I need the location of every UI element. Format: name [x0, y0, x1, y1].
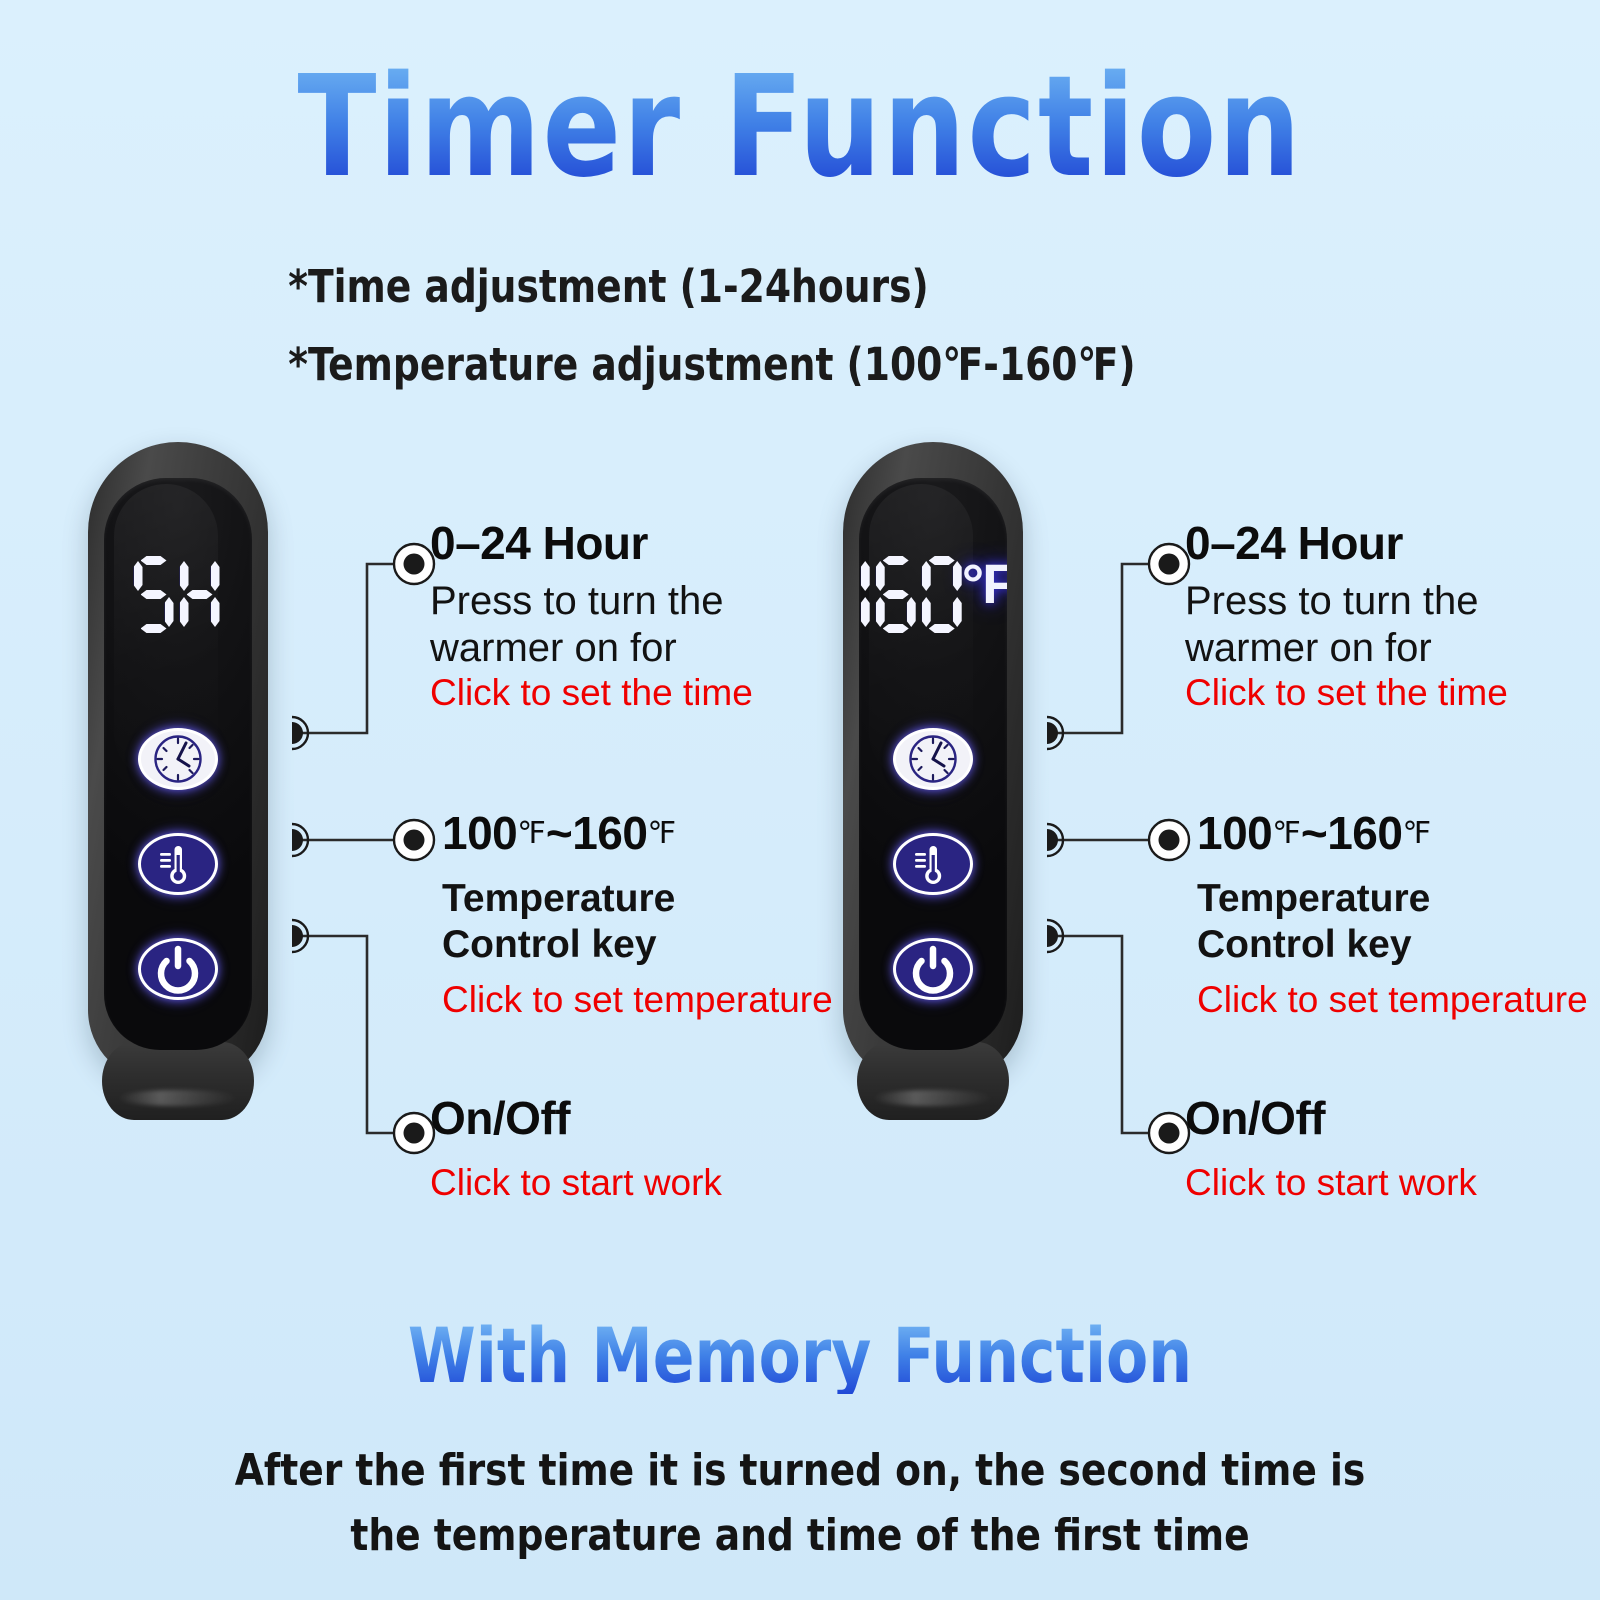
callout-temperature-left: 100℉~160℉ Temperature Control key Click … — [442, 810, 833, 1022]
infographic-canvas: Timer Function *Time adjustment (1-24hou… — [0, 0, 1600, 1600]
callout-temperature-hint: Click to set temperature — [1197, 978, 1588, 1022]
device-screen: °F — [859, 478, 1007, 1050]
led-digit-6 — [876, 556, 916, 634]
power-icon — [138, 938, 218, 1000]
temp-max: 160 — [1327, 807, 1402, 859]
callout-hour-line1: Press to turn the — [430, 578, 753, 625]
leader-origin-clock-right — [1047, 717, 1063, 749]
leader-origin-clock-left — [292, 717, 308, 749]
memory-function-line2: the temperature and time of the first ti… — [40, 1505, 1560, 1567]
callout-hour-title: 0–24 Hour — [1185, 520, 1508, 568]
power-button-left[interactable] — [138, 938, 218, 1000]
callout-temperature-line2: Control key — [442, 922, 833, 968]
led-digit-0 — [922, 556, 962, 634]
callout-temperature-line2: Control key — [1197, 922, 1588, 968]
callout-temperature-title: 100℉~160℉ — [1197, 810, 1588, 858]
callout-onoff-title: On/Off — [1185, 1095, 1477, 1143]
callout-hour-line1: Press to turn the — [1185, 578, 1508, 625]
temp-max-unit: ℉ — [647, 817, 676, 850]
led-unit-right: °F — [962, 556, 1007, 612]
clock-button-right[interactable] — [893, 728, 973, 790]
power-button-right[interactable] — [893, 938, 973, 1000]
header-bullet-time: *Time adjustment (1-24hours) — [0, 262, 1488, 312]
leader-endpoint-onoff-left — [394, 1113, 434, 1153]
leader-endpoint-hour-left — [394, 544, 434, 584]
led-digits — [859, 556, 962, 634]
leader-origin-temp-left — [292, 824, 308, 856]
clock-button-left[interactable] — [138, 728, 218, 790]
led-display-left — [104, 556, 252, 664]
callout-onoff-left: On/Off Click to start work — [430, 1095, 722, 1205]
led-digits — [134, 556, 220, 634]
temp-range-sep: ~ — [546, 807, 572, 859]
memory-function-title: With Memory Function — [80, 1318, 1520, 1394]
callout-temperature-hint: Click to set temperature — [442, 978, 833, 1022]
leader-endpoint-onoff-right — [1149, 1113, 1189, 1153]
leader-origin-temp-right — [1047, 824, 1063, 856]
thermometer-button-right[interactable] — [893, 833, 973, 895]
device-base — [857, 1042, 1009, 1120]
callout-hour-hint: Click to set the time — [430, 671, 753, 715]
thermometer-icon — [893, 833, 973, 895]
callout-hour-left: 0–24 Hour Press to turn the warmer on fo… — [430, 520, 753, 716]
device-screen — [104, 478, 252, 1050]
leader-origin-power-right — [1047, 920, 1063, 952]
page-title: Timer Function — [64, 58, 1536, 198]
temp-min-unit: ℉ — [1272, 817, 1301, 850]
led-digit-1 — [859, 556, 870, 634]
callout-temperature-line1: Temperature — [1197, 876, 1588, 922]
callout-onoff-title: On/Off — [430, 1095, 722, 1143]
thermometer-button-left[interactable] — [138, 833, 218, 895]
power-icon — [893, 938, 973, 1000]
device-right: °F — [843, 442, 1023, 1122]
led-digit-5 — [134, 556, 174, 634]
clock-icon — [138, 728, 218, 790]
callout-hour-right: 0–24 Hour Press to turn the warmer on fo… — [1185, 520, 1508, 716]
temp-max: 160 — [572, 807, 647, 859]
callout-hour-title: 0–24 Hour — [430, 520, 753, 568]
header-bullet-temperature: *Temperature adjustment (100℉-160℉) — [0, 340, 1488, 390]
callout-temperature-line1: Temperature — [442, 876, 833, 922]
leader-origin-power-left — [292, 920, 308, 952]
memory-function-line1: After the first time it is turned on, th… — [40, 1440, 1560, 1502]
temp-max-unit: ℉ — [1402, 817, 1431, 850]
callout-onoff-hint: Click to start work — [1185, 1161, 1477, 1205]
thermometer-icon — [138, 833, 218, 895]
led-display-right: °F — [859, 556, 1007, 664]
callout-onoff-hint: Click to start work — [430, 1161, 722, 1205]
callout-onoff-right: On/Off Click to start work — [1185, 1095, 1477, 1205]
leader-endpoint-hour-right — [1149, 544, 1189, 584]
temp-min-unit: ℉ — [517, 817, 546, 850]
leader-endpoint-temp-left — [394, 820, 434, 860]
callout-temperature-title: 100℉~160℉ — [442, 810, 833, 858]
leader-endpoint-temp-right — [1149, 820, 1189, 860]
temp-min: 100 — [442, 807, 517, 859]
temp-min: 100 — [1197, 807, 1272, 859]
callout-temperature-right: 100℉~160℉ Temperature Control key Click … — [1197, 810, 1588, 1022]
callout-hour-line2: warmer on for — [430, 625, 753, 672]
temp-range-sep: ~ — [1301, 807, 1327, 859]
led-digit-H — [180, 556, 220, 634]
device-base — [102, 1042, 254, 1120]
callout-hour-line2: warmer on for — [1185, 625, 1508, 672]
callout-hour-hint: Click to set the time — [1185, 671, 1508, 715]
device-left — [88, 442, 268, 1122]
clock-icon — [893, 728, 973, 790]
